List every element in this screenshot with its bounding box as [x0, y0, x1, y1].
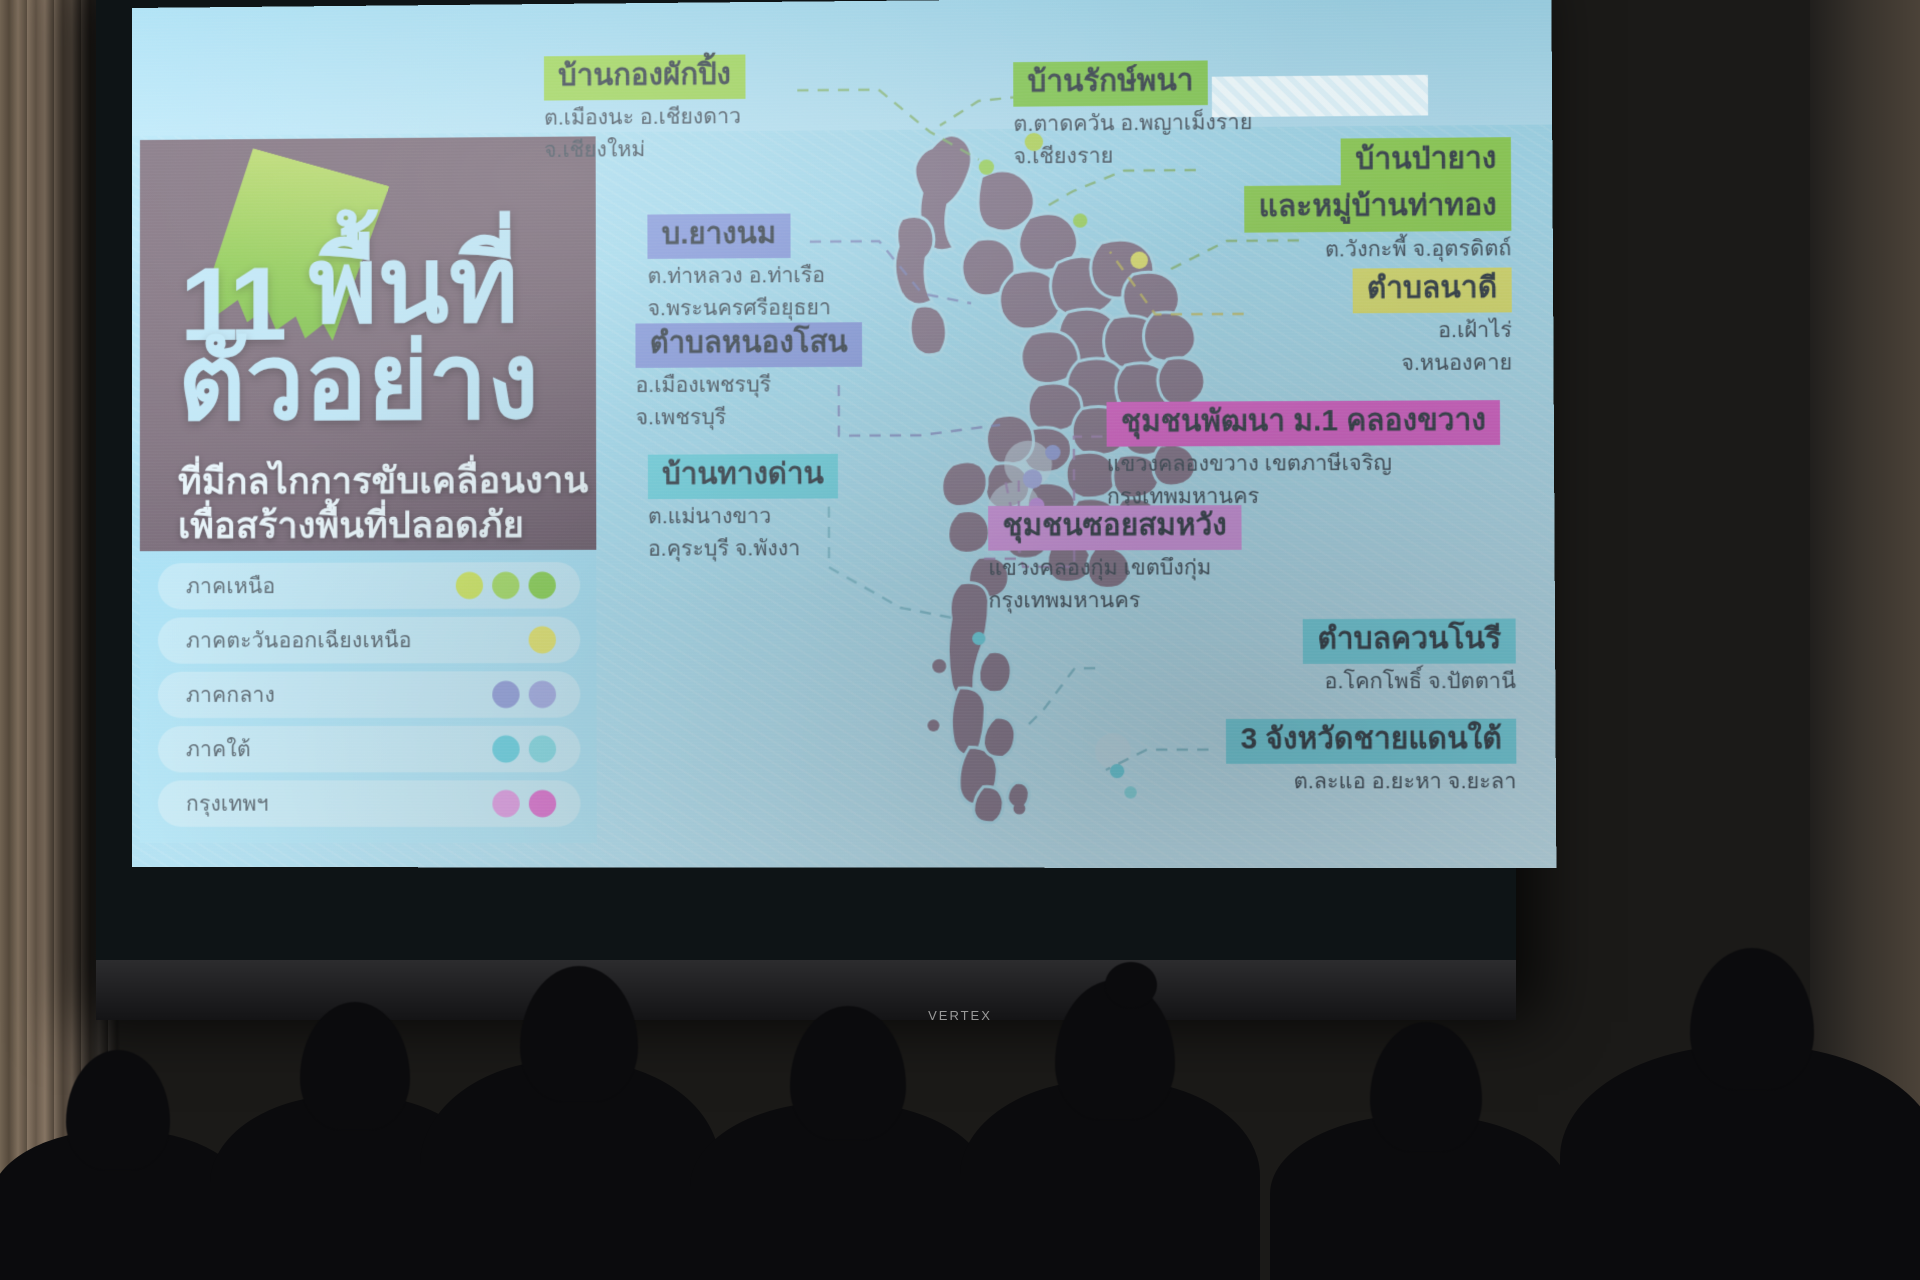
audience-silhouettes — [0, 950, 1920, 1280]
callout-chip: ตำบลหนองโสน — [635, 322, 862, 367]
callout-sub1: แขวงคลองกุ่ม เขตบึงกุ่ม — [988, 554, 1241, 583]
callout-chip: บ้านรักษ์พนา — [1013, 60, 1208, 106]
person-head — [300, 1002, 410, 1130]
projector-hotspot — [1212, 75, 1428, 117]
person-head — [1370, 1022, 1482, 1152]
legend-dot — [492, 735, 519, 762]
callout-sub1: ต.ท่าหลวง อ.ท่าเรือ — [647, 262, 831, 291]
callout-sub1: ต.แม่นางขาว — [648, 502, 838, 531]
legend-dot — [456, 572, 483, 599]
title-panel: 11 พื้นที่ ตัวอย่าง ที่มีกลไกการขับเคลื่… — [140, 136, 596, 551]
legend-dot — [529, 681, 556, 708]
callout-sub2: กรุงเทพมหานคร — [988, 586, 1241, 615]
legend-dot — [529, 735, 556, 762]
subtitle-line-2: เพื่อสร้างพื้นที่ปลอดภัย — [178, 496, 524, 555]
legend-swatches — [456, 572, 556, 600]
photo-room: 11 พื้นที่ ตัวอย่าง ที่มีกลไกการขับเคลื่… — [0, 0, 1920, 1280]
projection-screen-shell: 11 พื้นที่ ตัวอย่าง ที่มีกลไกการขับเคลื่… — [96, 0, 1516, 1000]
legend-dot — [492, 572, 519, 599]
callout-sub1: ต.ละแอ อ.ยะหา จ.ยะลา — [1044, 768, 1516, 796]
callout-sub2: จ.หนองคาย — [1207, 349, 1512, 379]
person-head — [520, 966, 638, 1102]
person-head — [66, 1050, 170, 1170]
callout-sub1: ต.วังกะพี้ จ.อุตรดิตถ์ — [1165, 235, 1511, 265]
callout-tambon-khuan-nori[interactable]: ตำบลควนโนรี อ.โคกโพธิ์ จ.ปัตตานี — [1044, 619, 1516, 697]
callout-ban-kong-phak-ping[interactable]: บ้านกองผักปิ้ง ต.เมืองนะ อ.เชียงดาว จ.เช… — [544, 55, 745, 165]
projection-screen: 11 พื้นที่ ตัวอย่าง ที่มีกลไกการขับเคลื่… — [132, 0, 1557, 868]
callout-sub1: อ.โคกโพธิ์ จ.ปัตตานี — [1044, 667, 1516, 696]
person-head — [790, 1006, 906, 1140]
callout-chip: บ้านทางด่าน — [648, 454, 838, 499]
callout-chip: บ้านป่ายาง — [1341, 137, 1511, 185]
callout-sub2: จ.เพชรบุรี — [636, 403, 863, 432]
callout-chip: บ.ยางนม — [647, 214, 790, 259]
callout-tambon-na-di[interactable]: ตำบลนาดี อ.เฝ้าไร่ จ.หนองคาย — [1207, 268, 1513, 379]
legend-swatches — [492, 790, 556, 817]
title-line-2: ตัวอย่าง — [178, 334, 539, 432]
map-pin — [1023, 469, 1043, 488]
legend-item-northeast[interactable]: ภาคตะวันออกเฉียงเหนือ — [158, 617, 580, 664]
callout-chip: บ้านกองผักปิ้ง — [544, 55, 745, 101]
callout-sub2: จ.เชียงใหม่ — [544, 135, 745, 165]
person-hair-bun — [1105, 962, 1157, 1008]
callout-chip: ตำบลควนโนรี — [1303, 619, 1516, 664]
callout-three-southern-provinces[interactable]: 3 จังหวัดชายแดนใต้ ต.ละแอ อ.ยะหา จ.ยะลา — [1044, 719, 1516, 796]
map-pin — [972, 632, 985, 645]
callout-ban-thang-dan[interactable]: บ้านทางด่าน ต.แม่นางขาว อ.คุระบุรี จ.พัง… — [648, 454, 838, 563]
person-head — [1690, 948, 1814, 1090]
callout-sub1: ต.เมืองนะ อ.เชียงดาว — [544, 103, 745, 133]
callout-sub2: จ.พระนครศรีอยุธยา — [648, 294, 832, 323]
callout-sub2: อ.คุระบุรี จ.พังงา — [648, 534, 838, 563]
legend-label: ภาคกลาง — [186, 678, 275, 711]
legend-swatches — [492, 735, 556, 762]
legend-label: ภาคเหนือ — [186, 569, 275, 602]
legend-dot — [492, 681, 519, 708]
callout-chip-line2: และหมู่บ้านท่าทอง — [1244, 184, 1511, 232]
callout-chumchon-phatthana[interactable]: ชุมชนพัฒนา ม.1 คลองขวาง แขวงคลองขวาง เขต… — [1106, 400, 1500, 511]
callout-chip: ชุมชนพัฒนา ม.1 คลองขวาง — [1106, 400, 1500, 446]
legend-item-south[interactable]: ภาคใต้ — [158, 726, 581, 773]
legend-dot — [529, 626, 556, 653]
legend-dot — [529, 790, 556, 817]
callout-ban-yang-nom[interactable]: บ.ยางนม ต.ท่าหลวง อ.ท่าเรือ จ.พระนครศรีอ… — [647, 213, 831, 322]
callout-ban-pa-yang[interactable]: บ้านป่ายาง และหมู่บ้านท่าทอง ต.วังกะพี้ … — [1165, 137, 1512, 265]
legend-dot — [529, 572, 556, 599]
title-line-1: พื้นที่ — [308, 238, 518, 336]
legend-item-central[interactable]: ภาคกลาง — [158, 671, 580, 718]
map-pin — [1131, 252, 1148, 269]
legend-item-north[interactable]: ภาคเหนือ — [158, 562, 580, 609]
callout-chip: ชุมชนซอยสมหวัง — [988, 505, 1241, 550]
callout-chip: ตำบลนาดี — [1352, 268, 1512, 314]
legend-panel: ภาคเหนือ ภาคตะวันออกเฉียงเหนือ — [140, 550, 597, 843]
callout-chumchon-soi-som-wang[interactable]: ชุมชนซอยสมหวัง แขวงคลองกุ่ม เขตบึงกุ่ม ก… — [988, 505, 1242, 615]
legend-label: กรุงเทพฯ — [186, 787, 269, 820]
legend-dot — [492, 790, 519, 817]
callout-tambon-nong-sano[interactable]: ตำบลหนองโสน อ.เมืองเพชรบุรี จ.เพชรบุรี — [635, 322, 862, 432]
callout-sub1: อ.เฝ้าไร่ — [1207, 316, 1512, 346]
slide-canvas: 11 พื้นที่ ตัวอย่าง ที่มีกลไกการขับเคลื่… — [132, 0, 1557, 868]
legend-label: ภาคใต้ — [186, 733, 251, 766]
legend-swatches — [529, 626, 556, 653]
map-pin — [1073, 213, 1087, 227]
callout-sub1: แขวงคลองขวาง เขตภาษีเจริญ — [1107, 449, 1501, 479]
callout-chip: 3 จังหวัดชายแดนใต้ — [1226, 719, 1516, 764]
map-pin — [1045, 445, 1060, 460]
callout-sub1: อ.เมืองเพชรบุรี — [636, 371, 863, 400]
legend-label: ภาคตะวันออกเฉียงเหนือ — [186, 623, 412, 657]
map-pin — [979, 159, 994, 174]
legend-swatches — [492, 681, 556, 708]
legend-item-bangkok[interactable]: กรุงเทพฯ — [158, 780, 581, 827]
